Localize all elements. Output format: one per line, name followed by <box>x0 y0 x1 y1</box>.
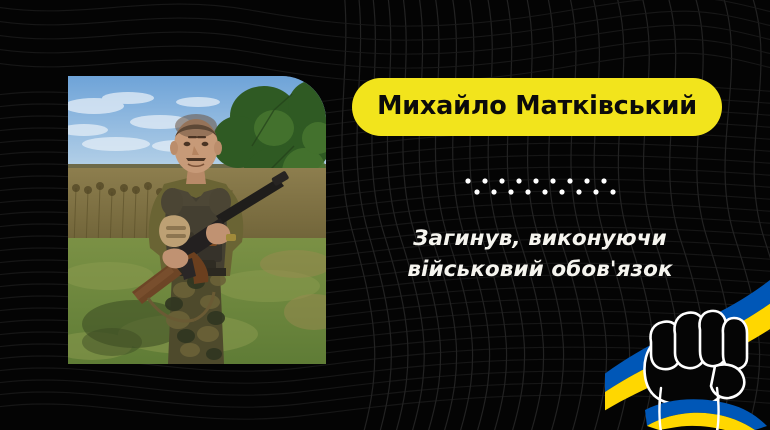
soldier-photo-illustration <box>68 76 326 364</box>
dot-divider-svg <box>462 174 620 198</box>
wrist-flag-wrap <box>645 399 767 430</box>
person-name: Михайло Матківський <box>377 94 697 120</box>
raised-fist-flag-svg <box>605 270 770 430</box>
soldier-photo <box>68 76 326 364</box>
raised-fist-icon <box>605 270 770 430</box>
subtitle-line-1: Загинув, виконуючи <box>360 224 720 255</box>
poster-canvas: Михайло Матківський <box>0 0 770 430</box>
name-badge: Михайло Матківський <box>352 78 722 136</box>
dot-divider <box>462 174 620 198</box>
